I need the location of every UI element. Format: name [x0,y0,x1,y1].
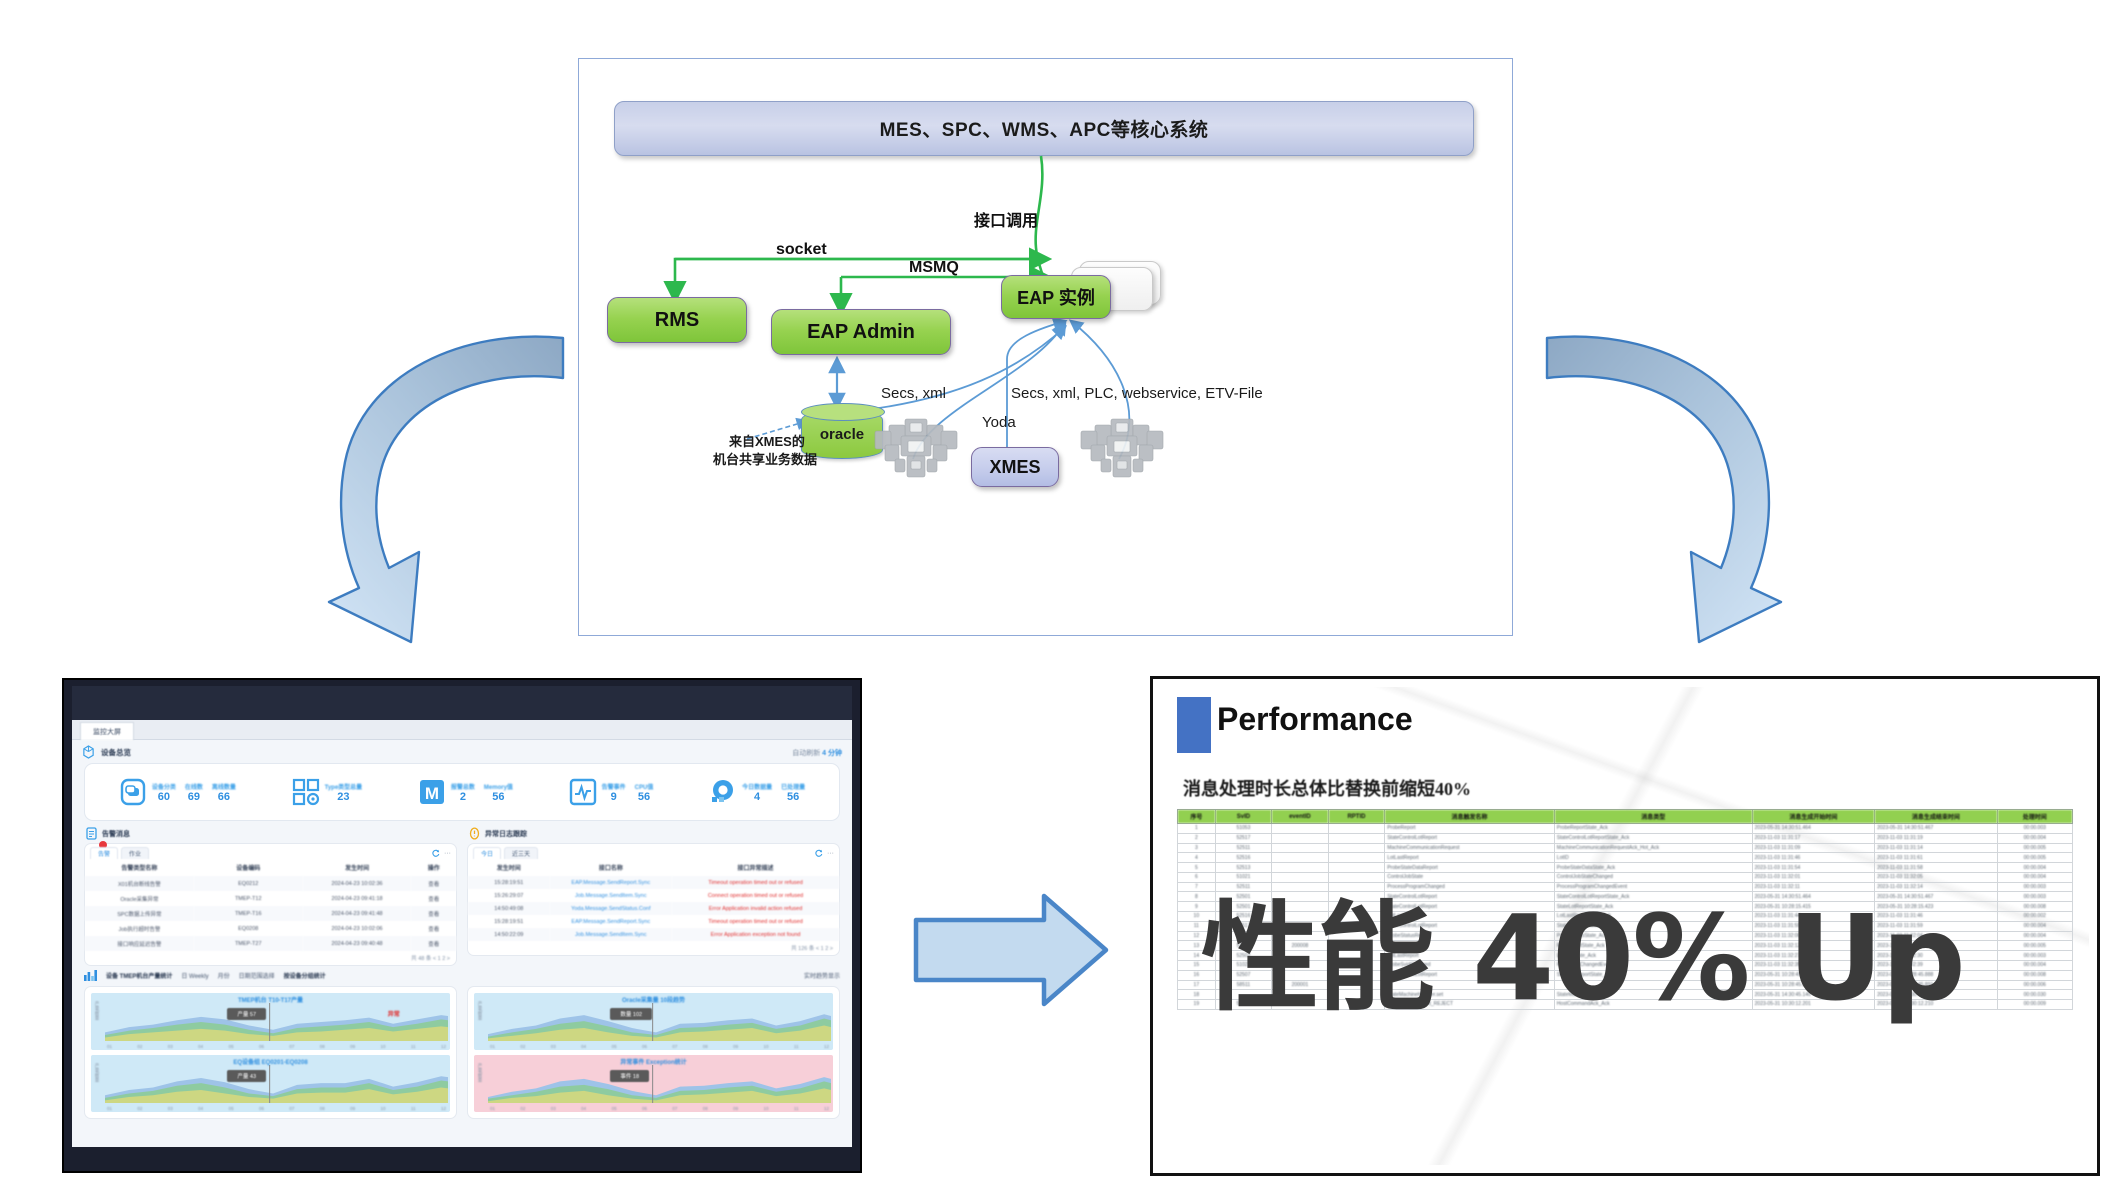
cell-device-code: EQ0208 [194,921,303,936]
cell-alarm-type: Oracle采集异常 [85,891,194,906]
chart-plot [488,1065,831,1103]
kpi-card: 设备分类 60 在线数 69 离线数量 66 [84,763,840,821]
cell-svid: 52517 [1215,833,1272,843]
dashboard-panels: 告警消息 告警 作业 ··· [72,821,852,966]
cell-action[interactable]: 查看 [411,891,456,906]
cell-rptid [1328,863,1385,873]
table-row[interactable]: 15:28:19:51 EAP.Message.SendReport.Sync … [468,876,839,889]
x-tick: 03 [168,1044,173,1049]
x-tick: 03 [551,1106,556,1111]
dashboard-titlebar [72,686,852,720]
x-tick: 11 [411,1044,416,1049]
col-end-time: 消息生成结束时间 [1875,810,1997,824]
table-row[interactable]: 151053ProbeReportProbeReportState_Ack202… [1178,824,2073,834]
exception-pager[interactable]: 共 126 条 < 1 2 > [468,941,839,955]
cell-occur-time: 2024-04-23 10:02:06 [303,921,412,936]
cell-trigger-name: StateControlLotReport [1385,833,1555,843]
col-alarm-type: 告警类型名称 [85,859,194,876]
kpi-alarm-memory[interactable]: M 报警总数 2 Memory值 56 [418,778,513,806]
chart-title: Oracle采集量 10段趋势 [474,995,833,1004]
x-tick: 11 [794,1106,799,1111]
kpi-type-total[interactable]: Type类型总量 23 [292,778,363,806]
chart-title: 异常事件 Exception统计 [474,1057,833,1066]
table-row[interactable]: Oracle采集异常 TMEP-T12 2024-04-23 09:41:18 … [85,891,456,906]
kpi-event-cpu[interactable]: 告警事件 9 CPU值 56 [569,778,654,806]
col-action: 操作 [411,859,456,876]
table-row[interactable]: X01机台断线告警 EQ0212 2024-04-23 10:02:36 查看 [85,876,456,891]
x-tick: 02 [137,1044,142,1049]
x-tick: 01 [490,1106,495,1111]
table-row[interactable]: 352511MachineCommunicationRequestMachine… [1178,843,2073,853]
x-tick: 05 [229,1044,234,1049]
equipment-robot-right-icon [1077,415,1167,481]
chart-anomaly-tag: 异常 [388,1009,400,1018]
cell-alarm-type: 接口响应延迟告警 [85,936,194,951]
cell-rptid [1328,872,1385,882]
x-tick: 10 [381,1106,386,1111]
x-tick: 05 [229,1106,234,1111]
dashboard-statusbar [72,1149,852,1167]
kpi-value: 56 [484,791,513,803]
socket-label: socket [776,241,827,259]
device-overview-header: 设备总览 自动刷新 4 分钟 [72,740,852,763]
cell-rptid [1328,833,1385,843]
x-tick: 05 [612,1044,617,1049]
performance-slide: Performance 消息处理时长总体比替换前缩短40% 序号 SvID ev… [1161,687,2089,1165]
cell-occur-time: 15:28:19:51 [468,915,550,928]
auto-refresh-indicator: 自动刷新 4 分钟 [792,748,842,758]
cell-device-code: EQ0212 [194,876,303,891]
oracle-note-line2: 机台共享业务数据 [713,449,817,468]
cell-svid: 51053 [1215,824,1272,834]
cell-end-time: 2023-05-31 14:30:51.467 [1875,824,1997,834]
cell-interface-link[interactable]: Job.Message.SendItem.Sync [550,889,672,902]
kpi-label: 告警事件 [602,782,626,791]
cell-error-desc: Error Application exception not found [672,928,839,941]
cell-occur-time: 2024-04-23 09:41:48 [303,906,412,921]
col-trigger-name: 消息触发名称 [1385,810,1555,824]
refresh-icon[interactable] [815,849,823,857]
cell-end-time: 2023-11-03 11:31:61 [1875,853,1997,863]
table-row[interactable]: 14:50:22:09 Job.Message.SendItem.Sync Er… [468,928,839,941]
oracle-note-line1: 来自XMES的 [729,431,805,450]
x-tick: 03 [551,1044,556,1049]
kpi-value: 9 [602,791,626,803]
cell-error-desc: Timeout operation timed out or refused [672,876,839,889]
secs-right-label: Secs, xml, PLC, webservice, ETV-File [1011,385,1263,402]
col-svid: SvID [1215,810,1272,824]
table-row[interactable]: 15:28:19:51 EAP.Message.SendReport.Sync … [468,915,839,928]
architecture-panel: MES、SPC、WMS、APC等核心系统 [578,58,1513,636]
kpi-value: 60 [152,791,176,803]
x-tick: 08 [320,1044,325,1049]
cell-eventid [1272,833,1329,843]
chart-x-axis: 01 02 03 04 05 06 07 08 09 10 11 12 [490,1106,829,1111]
cell-end-time: 2023-11-03 11:31:58 [1875,863,1997,873]
exception-panel-title: 异常日志跟踪 [485,829,527,839]
table-row[interactable]: 452516LotLastReportLotID2023-11-03 11:31… [1178,853,2073,863]
table-row[interactable]: 552513ProbeStateDataReportProbeStateData… [1178,863,2073,873]
cell-duration: 00:00.003 [1997,824,2072,834]
cloud-data-icon [709,778,737,806]
xmes-box[interactable]: XMES [971,447,1059,487]
table-row[interactable]: Job执行超时告警 EQ0208 2024-04-23 10:02:06 查看 [85,921,456,936]
col-index: 序号 [1178,810,1216,824]
cell-start-time: 2023-11-03 11:31:09 [1752,843,1874,853]
area-chart[interactable]: 异常事件 Exception统计 产量/数量 事件 18 01 02 [474,1055,833,1112]
tab-job[interactable]: 作业 [121,847,149,859]
x-tick: 12 [824,1044,829,1049]
cell-end-time: 2023-11-03 11:32:05 [1875,872,1997,882]
cell-eventid [1272,863,1329,873]
chart-x-axis: 01 02 03 04 05 06 07 08 09 10 11 12 [107,1044,446,1049]
exception-card: 今日 近三天 ··· [467,843,840,956]
cell-start-time: 2023-11-03 11:31:54 [1752,863,1874,873]
chart-plot [488,1003,831,1041]
x-tick: 01 [107,1044,112,1049]
more-icon[interactable]: ··· [827,850,834,857]
cell-message-type: StateControlLotReportState_Ack [1554,833,1752,843]
kpi-value: 56 [635,791,654,803]
cell-duration: 00:00.004 [1997,872,2072,882]
slide-canvas: MES、SPC、WMS、APC等核心系统 [0,0,2108,1190]
cell-end-time: 2023-11-03 11:31:19 [1875,833,1997,843]
dashboard-tabstrip: 监控大屏 [72,720,852,740]
kpi-label: 在线数 [185,782,203,791]
eap-admin-box[interactable]: EAP Admin [771,309,951,355]
table-row[interactable]: 接口响应延迟告警 TMEP-T27 2024-04-23 09:40:48 查看 [85,936,456,951]
cell-duration: 00:00.003 [1997,882,2072,892]
x-tick: 06 [642,1044,647,1049]
x-tick: 01 [490,1044,495,1049]
x-tick: 10 [764,1044,769,1049]
alarm-table: 告警类型名称 设备编码 发生时间 操作 X01机台断线告警 EQ0212 202… [85,859,456,951]
x-tick: 09 [733,1106,738,1111]
col-eventid: eventID [1272,810,1329,824]
cell-index: 5 [1178,863,1216,873]
cell-action[interactable]: 查看 [411,906,456,921]
cell-start-time: 2023-11-03 11:31:17 [1752,833,1874,843]
x-tick: 08 [703,1044,708,1049]
x-tick: 04 [581,1106,586,1111]
x-tick: 07 [289,1106,294,1111]
chart-tooltip: 数量 102 [610,1008,652,1020]
alarm-table-header-row: 告警类型名称 设备编码 发生时间 操作 [85,859,456,876]
cell-trigger-name: ControlJobState [1385,872,1555,882]
x-tick: 08 [703,1106,708,1111]
kpi-label: CPU值 [635,782,654,791]
center-block-arrow [912,890,1112,1010]
cell-duration: 00:00.004 [1997,833,2072,843]
chart-toolbar-item[interactable]: 实时趋势显示 [804,971,840,980]
cell-svid: 52516 [1215,853,1272,863]
m-square-icon: M [418,778,446,806]
col-start-time: 消息生成开始时间 [1752,810,1874,824]
table-row[interactable]: 14:50:49:08 Yoda.Message.SendStatus.Conf… [468,902,839,915]
x-tick: 07 [672,1106,677,1111]
cell-eventid [1272,843,1329,853]
cell-message-type: ProbeStateDataState_Ack [1554,863,1752,873]
tab-today[interactable]: 今日 [473,847,501,859]
cell-rptid [1328,824,1385,834]
equipment-robot-left-icon [871,415,961,481]
col-rptid: RPTID [1328,810,1385,824]
x-tick: 03 [168,1106,173,1111]
kpi-label: 报警总数 [451,782,475,791]
charts-area: TMEP机台 T10-T17产量 产量/数量 产量 57 异常 01 02 [72,983,852,1125]
device-icon [119,778,147,806]
svg-text:M: M [425,784,439,803]
cell-start-time: 2023-05-31 14:30:51.464 [1752,824,1874,834]
cell-message-type: LotID [1554,853,1752,863]
right-curved-arrow [1545,320,1795,650]
cell-occur-time: 2024-04-23 09:40:48 [303,936,412,951]
chart-tooltip: 产量 43 [227,1070,266,1082]
chart-tooltip: 事件 18 [610,1070,649,1082]
exception-log-panel: 异常日志跟踪 今日 近三天 ··· [467,823,840,966]
exception-table-header-row: 发生时间 接口名称 接口异常描述 [468,859,839,876]
col-device-code: 设备编码 [194,859,303,876]
cell-interface-link[interactable]: EAP.Message.SendReport.Sync [550,876,672,889]
cell-device-code: TMEP-T12 [194,891,303,906]
bar-chart-icon [84,970,97,981]
x-tick: 09 [350,1044,355,1049]
performance-title: Performance [1217,701,1413,738]
alarm-panel-header: 告警消息 [84,823,457,843]
table-row[interactable]: 651021ControlJobStateControlJobStateChan… [1178,872,2073,882]
kpi-value: 56 [781,791,805,803]
chart-toolbar-item[interactable]: 日 Weekly [181,971,208,980]
cell-action[interactable]: 查看 [411,876,456,891]
chart-title: EQ设备组 EQ0201-EQ0208 [91,1057,450,1066]
col-occur-time: 发生时间 [468,859,550,876]
architecture-connectors [579,59,1514,637]
cell-interface-link[interactable]: Job.Message.SendItem.Sync [550,928,672,941]
performance-accent-square [1177,697,1211,753]
x-tick: 09 [350,1106,355,1111]
chart-toolbar-item[interactable]: 月份 [218,971,230,980]
kpi-data-volume[interactable]: 今日数据量 4 已处理量 56 [709,778,805,806]
col-duration: 处理时间 [1997,810,2072,824]
kpi-value: 23 [325,791,363,803]
x-tick: 05 [612,1106,617,1111]
yoda-label: Yoda [982,414,1016,431]
cell-eventid [1272,872,1329,882]
cell-occur-time: 15:26:29:07 [468,889,550,902]
warning-icon [469,827,480,840]
exception-table: 发生时间 接口名称 接口异常描述 15:28:19:51 EAP.Message… [468,859,839,941]
cell-index: 3 [1178,843,1216,853]
device-overview-icon [82,745,95,760]
cell-occur-time: 14:50:49:08 [468,902,550,915]
performance-header-row: 序号 SvID eventID RPTID 消息触发名称 消息类型 消息生成开始… [1178,810,2073,824]
kpi-label: 已处理量 [781,782,805,791]
cell-interface-link[interactable]: Yoda.Message.SendStatus.Conf [550,902,672,915]
cell-alarm-type: SPC数据上传异常 [85,906,194,921]
secs-left-label: Secs, xml [881,385,946,402]
cell-action[interactable]: 查看 [411,921,456,936]
performance-subtitle: 消息处理时长总体比替换前缩短40% [1183,775,1471,801]
cell-duration: 00:00.005 [1997,843,2072,853]
cell-start-time: 2023-11-03 11:31:46 [1752,853,1874,863]
charts-column-right: Oracle采集量 10段趋势 产量/数量 数量 102 01 02 [467,986,840,1119]
alarm-list-icon [86,827,97,840]
alarm-tabs: 告警 作业 ··· [85,844,456,859]
chart-toolbar-item[interactable]: 日期范围选择 [239,971,275,980]
area-chart[interactable]: TMEP机台 T10-T17产量 产量/数量 产量 57 异常 01 02 [91,993,450,1050]
cell-end-time: 2023-11-03 11:31:14 [1875,843,1997,853]
cell-trigger-name: ProbeReport [1385,824,1555,834]
x-tick: 12 [441,1044,446,1049]
kpi-label: Memory值 [484,782,513,791]
tab-alarm[interactable]: 告警 [90,847,118,859]
cell-error-desc: Timeout operation timed out or refused [672,915,839,928]
chart-toolbar-item[interactable]: 按设备分组统计 [284,971,326,980]
left-curved-arrow [315,320,565,650]
cell-index: 2 [1178,833,1216,843]
cell-rptid [1328,853,1385,863]
alarm-message-panel: 告警消息 告警 作业 ··· [84,823,457,966]
alarm-pager[interactable]: 共 48 条 < 1 2 > [85,951,456,965]
table-row[interactable]: SPC数据上传异常 TMEP-T16 2024-04-23 09:41:48 查… [85,906,456,921]
exception-tabs: 今日 近三天 ··· [468,844,839,859]
x-tick: 01 [107,1106,112,1111]
cell-interface-link[interactable]: EAP.Message.SendReport.Sync [550,915,672,928]
cell-svid: 51021 [1215,872,1272,882]
kpi-value: 69 [185,791,203,803]
performance-overlay-text: 性能 40% Up [1201,899,2069,1017]
chart-toolbar: 设备 TMEP机台产量统计 日 Weekly 月份 日期范围选择 按设备分组统计… [72,966,852,983]
area-chart[interactable]: EQ设备组 EQ0201-EQ0208 产量/数量 产量 43 01 02 [91,1055,450,1112]
kpi-value: 2 [451,791,475,803]
x-tick: 12 [824,1106,829,1111]
x-tick: 07 [672,1044,677,1049]
kpi-label: 离线数量 [212,782,236,791]
cell-error-desc: Connect operation timed out or refused [672,889,839,902]
tab-monitor-screen[interactable]: 监控大屏 [80,722,134,740]
x-tick: 11 [794,1044,799,1049]
cell-duration: 00:00.005 [1997,853,2072,863]
dashboard-screenshot: 监控大屏 设备总览 自动刷新 4 分钟 [62,678,862,1173]
chart-x-axis: 01 02 03 04 05 06 07 08 09 10 11 12 [490,1044,829,1049]
col-message-type: 消息类型 [1554,810,1752,824]
kpi-label: 设备分类 [152,782,176,791]
cell-message-type: ControlJobStateChanged [1554,872,1752,882]
chart-tooltip: 产量 57 [227,1008,266,1020]
cell-error-desc: Error Application invalid action refused [672,902,839,915]
cell-trigger-name: MachineCommunicationRequest [1385,843,1555,853]
refresh-icon[interactable] [432,849,440,857]
table-row[interactable]: 15:26:29:07 Job.Message.SendItem.Sync Co… [468,889,839,902]
cell-trigger-name: LotLastReport [1385,853,1555,863]
x-tick: 11 [411,1106,416,1111]
cell-duration: 00:00.004 [1997,863,2072,873]
dashboard-content: 监控大屏 设备总览 自动刷新 4 分钟 [72,720,852,1147]
cell-alarm-type: Job执行超时告警 [85,921,194,936]
cell-eventid [1272,824,1329,834]
x-tick: 07 [289,1044,294,1049]
kpi-value: 66 [212,791,236,803]
cell-message-type: MachineCommunicationRequestAck_Hot_Ack [1554,843,1752,853]
alarm-tools: ··· [432,847,451,859]
device-overview-title: 设备总览 [101,747,131,758]
cell-device-code: TMEP-T16 [194,906,303,921]
cell-message-type: ProbeReportState_Ack [1554,824,1752,834]
cell-occur-time: 15:28:19:51 [468,876,550,889]
kpi-label: 今日数据量 [742,782,772,791]
col-error-desc: 接口异常描述 [672,859,839,876]
x-tick: 06 [259,1106,264,1111]
oracle-label: oracle [820,426,864,443]
charts-column-left: TMEP机台 T10-T17产量 产量/数量 产量 57 异常 01 02 [84,986,457,1119]
kpi-value: 4 [742,791,772,803]
type-grid-icon [292,778,320,806]
cell-alarm-type: X01机台断线告警 [85,876,194,891]
more-icon[interactable]: ··· [444,850,451,857]
table-row[interactable]: 252517StateControlLotReportStateControlL… [1178,833,2073,843]
msmq-label: MSMQ [909,259,959,277]
x-tick: 02 [520,1044,525,1049]
x-tick: 02 [520,1106,525,1111]
kpi-label: Type类型总量 [325,782,363,791]
cell-occur-time: 2024-04-23 09:41:18 [303,891,412,906]
cell-action[interactable]: 查看 [411,936,456,951]
x-tick: 04 [198,1106,203,1111]
cell-occur-time: 14:50:22:09 [468,928,550,941]
exception-tools: ··· [815,847,834,859]
cell-occur-time: 2024-04-23 10:02:36 [303,876,412,891]
chart-plot [105,1065,448,1103]
alarm-panel-title: 告警消息 [102,829,130,839]
pulse-icon [569,778,597,806]
area-chart[interactable]: Oracle采集量 10段趋势 产量/数量 数量 102 01 02 [474,993,833,1050]
cell-index: 6 [1178,872,1216,882]
x-tick: 12 [441,1106,446,1111]
chart-title: TMEP机台 T10-T17产量 [91,995,450,1004]
col-occur-time: 发生时间 [303,859,412,876]
x-tick: 04 [198,1044,203,1049]
cell-index: 1 [1178,824,1216,834]
cell-svid: 52511 [1215,843,1272,853]
cell-eventid [1272,853,1329,863]
cell-device-code: TMEP-T27 [194,936,303,951]
cell-svid: 52513 [1215,863,1272,873]
alarm-card: 告警 作业 ··· 告 [84,843,457,966]
col-interface-name: 接口名称 [550,859,672,876]
cell-rptid [1328,843,1385,853]
x-tick: 10 [764,1106,769,1111]
x-tick: 09 [733,1044,738,1049]
x-tick: 08 [320,1106,325,1111]
x-tick: 02 [137,1106,142,1111]
cell-start-time: 2023-11-03 11:32:01 [1752,872,1874,882]
tab-last-three-days[interactable]: 近三天 [504,847,538,859]
chart-x-axis: 01 02 03 04 05 06 07 08 09 10 11 12 [107,1106,446,1111]
eap-instance-box[interactable]: EAP 实例 [1001,275,1111,319]
x-tick: 04 [581,1044,586,1049]
cell-trigger-name: ProbeStateDataReport [1385,863,1555,873]
performance-screenshot: Performance 消息处理时长总体比替换前缩短40% 序号 SvID ev… [1150,676,2100,1176]
kpi-device-count[interactable]: 设备分类 60 在线数 69 离线数量 66 [119,778,236,806]
chart-toolbar-title: 设备 TMEP机台产量统计 [106,971,172,980]
rms-box[interactable]: RMS [607,297,747,343]
interface-call-label: 接口调用 [974,207,1038,231]
x-tick: 06 [642,1106,647,1111]
exception-panel-header: 异常日志跟踪 [467,823,840,843]
x-tick: 10 [381,1044,386,1049]
x-tick: 06 [259,1044,264,1049]
cell-index: 4 [1178,853,1216,863]
